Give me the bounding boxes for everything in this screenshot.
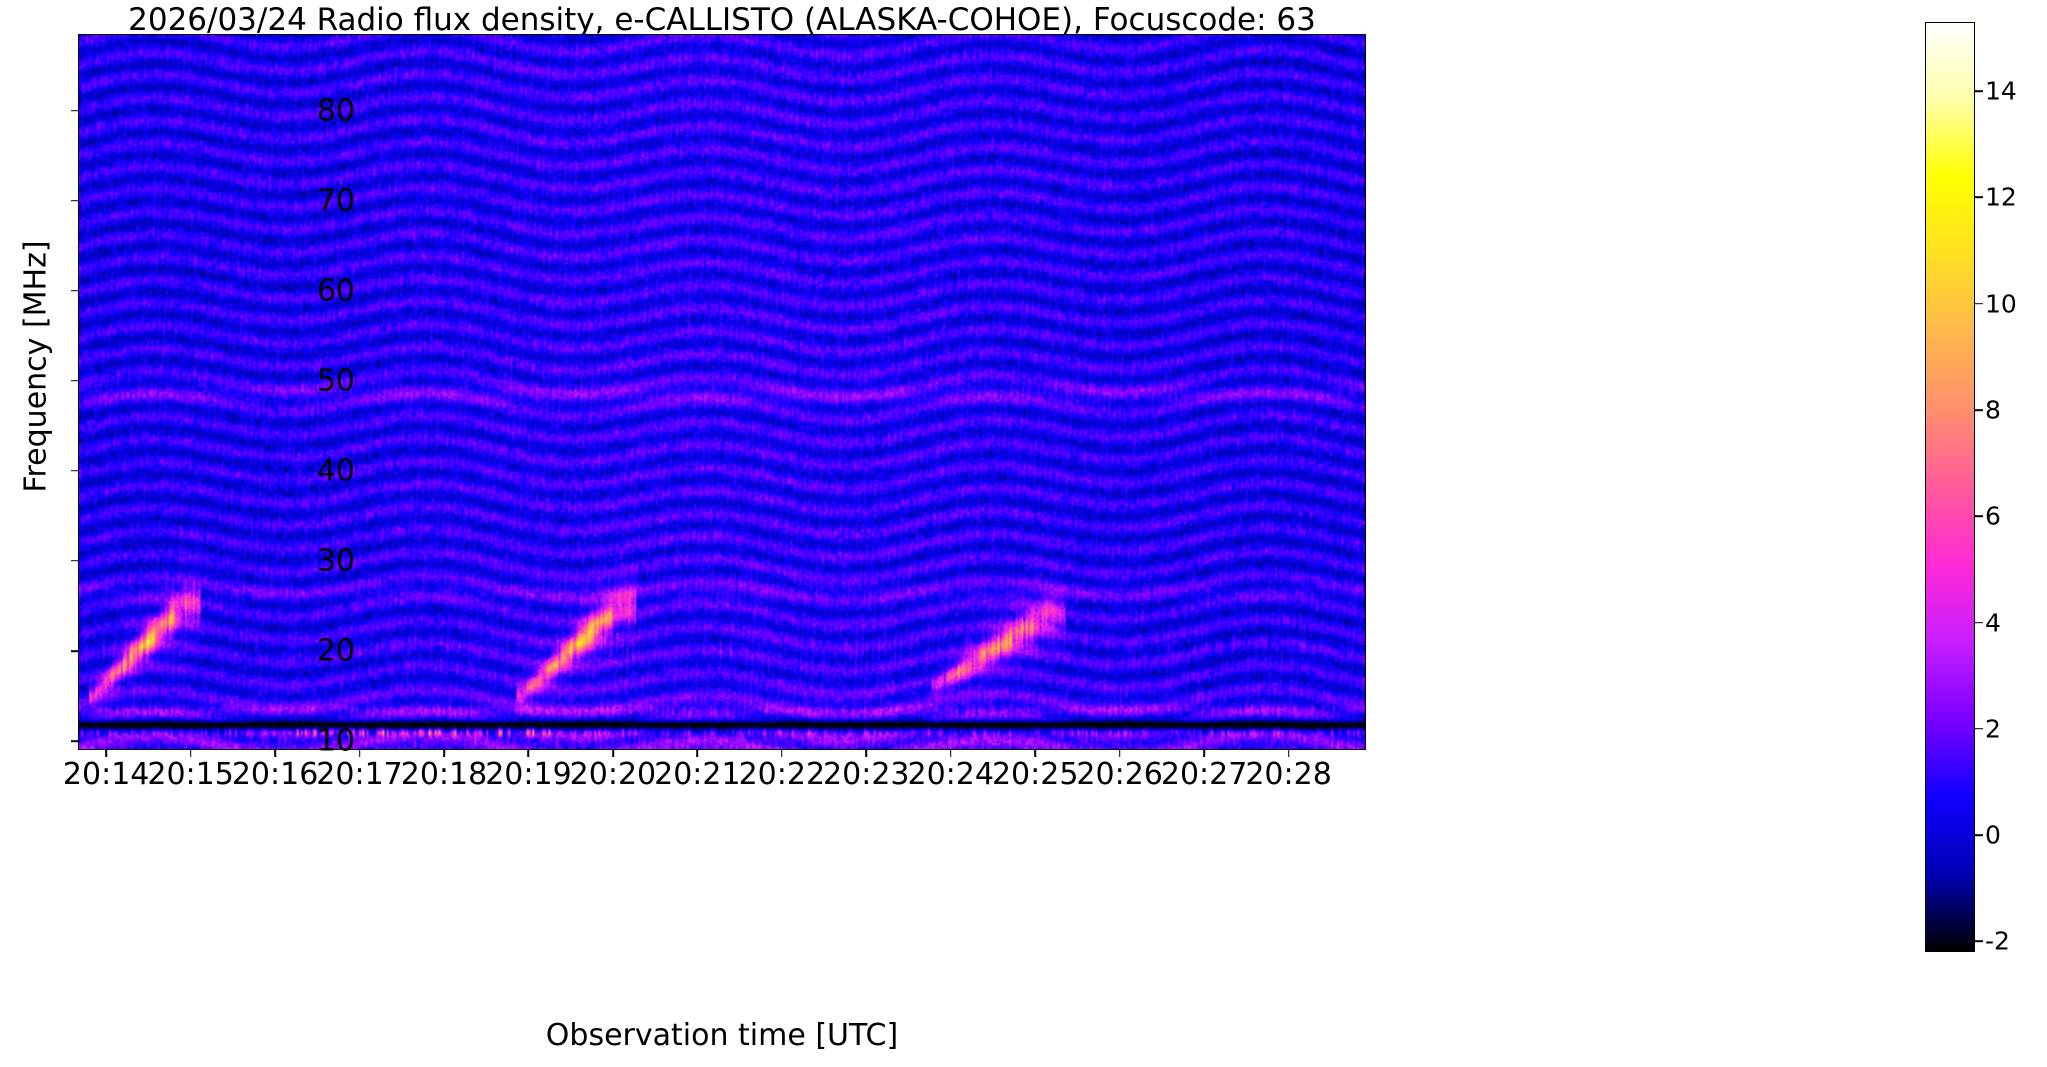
y-tick-label: 80 — [235, 93, 355, 128]
x-tick-label: 20:22 — [739, 757, 825, 792]
y-tick-label: 70 — [235, 183, 355, 218]
colorbar-gradient — [1926, 23, 1974, 951]
y-tick-label: 40 — [235, 453, 355, 488]
y-tick-label: 10 — [235, 723, 355, 758]
x-tick-label: 20:15 — [147, 757, 233, 792]
colorbar-tick-mark — [1975, 622, 1983, 624]
x-tick-label: 20:20 — [570, 757, 656, 792]
x-tick-mark — [528, 750, 530, 757]
colorbar-tick-label: 14 — [1985, 77, 2017, 106]
x-tick-mark — [105, 750, 107, 757]
x-tick-label: 20:17 — [316, 757, 402, 792]
y-tick-label: 30 — [235, 543, 355, 578]
colorbar-tick-mark — [1975, 941, 1983, 943]
x-tick-mark — [190, 750, 192, 757]
figure-root: 2026/03/24 Radio flux density, e-CALLIST… — [0, 0, 2047, 1067]
colorbar-tick-mark — [1975, 728, 1983, 730]
colorbar-tick-label: 0 — [1985, 821, 2001, 850]
colorbar-tick-mark — [1975, 409, 1983, 411]
y-tick-mark — [71, 200, 78, 202]
x-tick-label: 20:18 — [401, 757, 487, 792]
colorbar-tick-label: -2 — [1985, 927, 2010, 956]
colorbar-tick-mark — [1975, 197, 1983, 199]
y-tick-mark — [71, 290, 78, 292]
x-tick-mark — [274, 750, 276, 757]
y-tick-mark — [71, 650, 78, 652]
colorbar-tick-label: 8 — [1985, 395, 2001, 424]
y-tick-mark — [71, 380, 78, 382]
colorbar-tick-label: 4 — [1985, 608, 2001, 637]
colorbar-tick-label: 6 — [1985, 502, 2001, 531]
x-tick-mark — [1119, 750, 1121, 757]
x-tick-label: 20:23 — [823, 757, 909, 792]
x-tick-mark — [612, 750, 614, 757]
x-tick-mark — [1034, 750, 1036, 757]
x-tick-mark — [865, 750, 867, 757]
x-tick-label: 20:24 — [908, 757, 994, 792]
x-tick-label: 20:27 — [1161, 757, 1247, 792]
x-tick-label: 20:16 — [232, 757, 318, 792]
y-tick-label: 60 — [235, 273, 355, 308]
y-tick-mark — [71, 470, 78, 472]
colorbar-tick-label: 2 — [1985, 714, 2001, 743]
x-tick-mark — [1203, 750, 1205, 757]
x-tick-label: 20:26 — [1076, 757, 1162, 792]
colorbar[interactable] — [1925, 22, 1975, 952]
x-tick-label: 20:21 — [654, 757, 740, 792]
page-title: 2026/03/24 Radio flux density, e-CALLIST… — [78, 2, 1366, 38]
x-tick-mark — [781, 750, 783, 757]
colorbar-tick-mark — [1975, 90, 1983, 92]
x-tick-mark — [950, 750, 952, 757]
y-tick-label: 50 — [235, 363, 355, 398]
x-tick-label: 20:14 — [63, 757, 149, 792]
y-tick-label: 20 — [235, 633, 355, 668]
y-tick-mark — [71, 560, 78, 562]
y-tick-mark — [71, 740, 78, 742]
x-tick-mark — [359, 750, 361, 757]
x-axis-label: Observation time [UTC] — [78, 1018, 1366, 1053]
x-tick-label: 20:19 — [485, 757, 571, 792]
y-axis-label: Frequency [MHz] — [19, 9, 54, 725]
colorbar-tick-label: 12 — [1985, 183, 2017, 212]
x-tick-mark — [697, 750, 699, 757]
y-tick-mark — [71, 110, 78, 112]
x-tick-mark — [1288, 750, 1290, 757]
colorbar-tick-mark — [1975, 515, 1983, 517]
x-tick-label: 20:28 — [1245, 757, 1331, 792]
x-tick-label: 20:25 — [992, 757, 1078, 792]
colorbar-tick-mark — [1975, 834, 1983, 836]
colorbar-tick-mark — [1975, 303, 1983, 305]
colorbar-tick-label: 10 — [1985, 289, 2017, 318]
x-tick-mark — [443, 750, 445, 757]
